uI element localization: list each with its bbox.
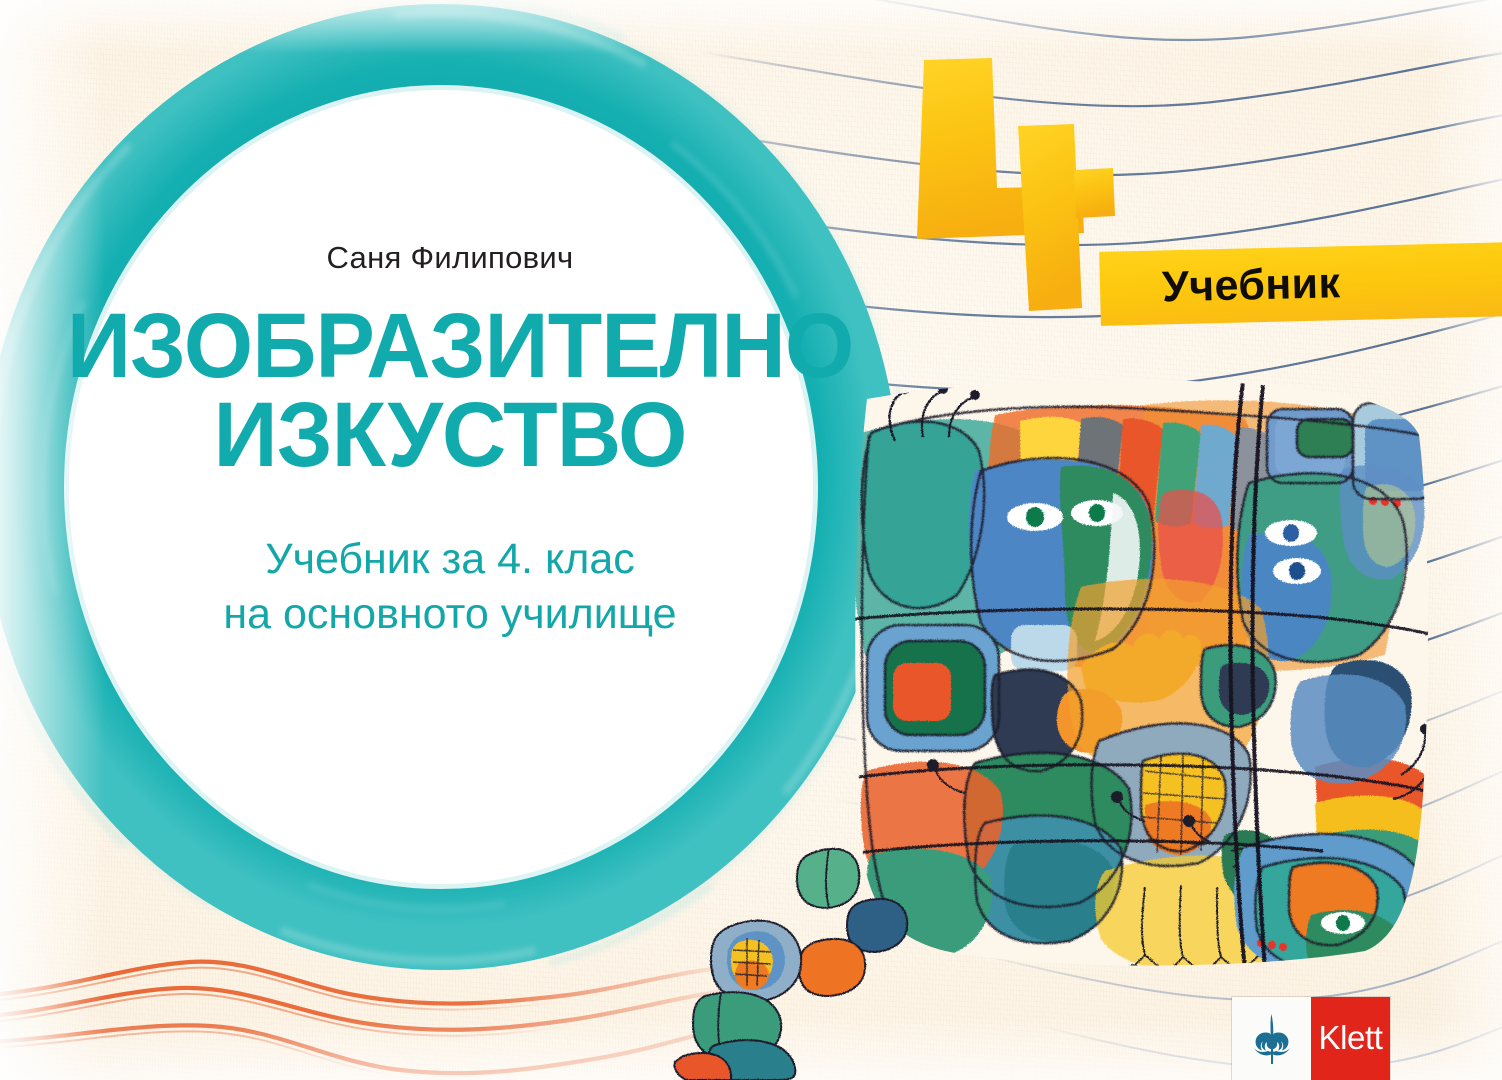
- klett-leaf-emblem-icon: [1232, 997, 1311, 1080]
- title-line-1: ИЗОБРАЗИТЕЛНО: [67, 295, 854, 397]
- subtitle: Учебник за 4. клас на основното училище: [55, 532, 845, 641]
- cover-text-block: Саня Филипович ИЗОБРАЗИТЕЛНО ИЗКУСТВО Уч…: [55, 240, 845, 642]
- banner-uchebnik: Учебник: [1099, 242, 1502, 326]
- klett-leaf-icon: [1244, 1011, 1300, 1067]
- klett-wordmark: Klett: [1311, 997, 1390, 1080]
- subtitle-line-2: на основното училище: [55, 587, 845, 642]
- title-line-2: ИЗКУСТВО: [67, 391, 833, 480]
- banner-label: Учебник: [1161, 259, 1340, 312]
- book-cover: Учебник: [0, 0, 1502, 1080]
- floating-pebble-shapes: [665, 800, 925, 1080]
- klett-wordmark-label: Klett: [1318, 1019, 1382, 1057]
- abstract-watercolor-faces-artwork: [845, 375, 1435, 975]
- page-title: ИЗОБРАЗИТЕЛНО ИЗКУСТВО: [67, 302, 833, 480]
- author-name: Саня Филипович: [55, 240, 845, 276]
- subtitle-line-1: Учебник за 4. клас: [55, 532, 845, 587]
- publisher-logo: Klett: [1232, 997, 1390, 1080]
